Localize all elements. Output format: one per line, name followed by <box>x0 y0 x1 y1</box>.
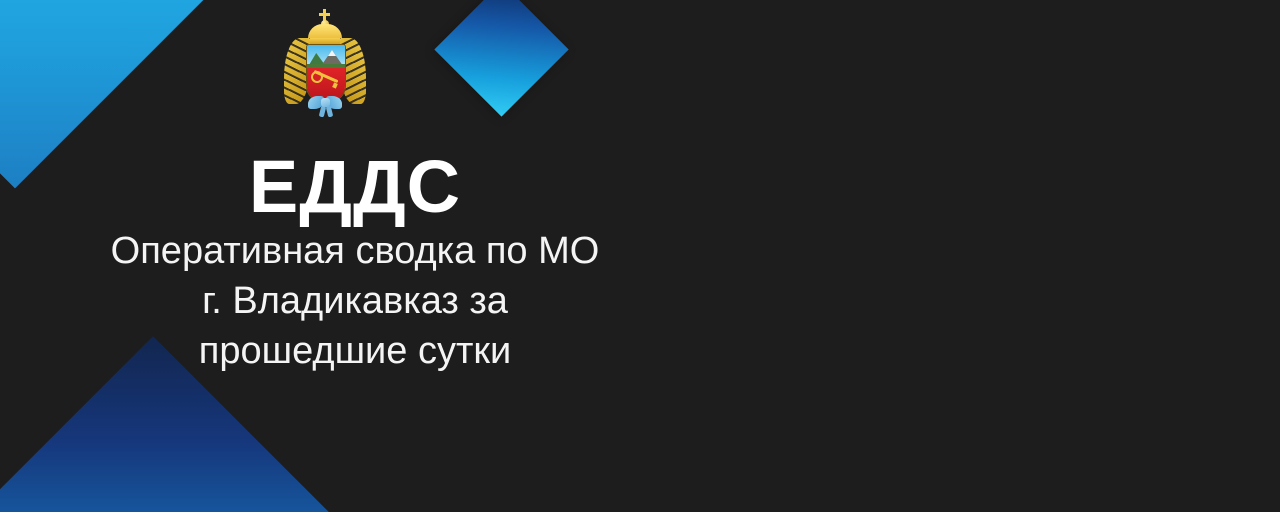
banner-subtitle: Оперативная сводка по МО г. Владикавказ … <box>30 226 680 376</box>
subtitle-line-1: Оперативная сводка по МО <box>30 226 680 276</box>
banner-text-block: ЕДДС Оперативная сводка по МО г. Владика… <box>30 150 680 376</box>
subtitle-line-3: прошедшие сутки <box>30 326 680 376</box>
ribbon <box>308 94 342 114</box>
eddc-banner: ЕДДС Оперативная сводка по МО г. Владика… <box>0 0 1280 512</box>
page-title: ЕДДС <box>30 150 680 224</box>
subtitle-line-2: г. Владикавказ за <box>30 276 680 326</box>
ribbon-knot <box>321 98 330 107</box>
crown-cross-horizontal <box>319 13 330 16</box>
coat-of-arms-icon <box>278 8 372 126</box>
